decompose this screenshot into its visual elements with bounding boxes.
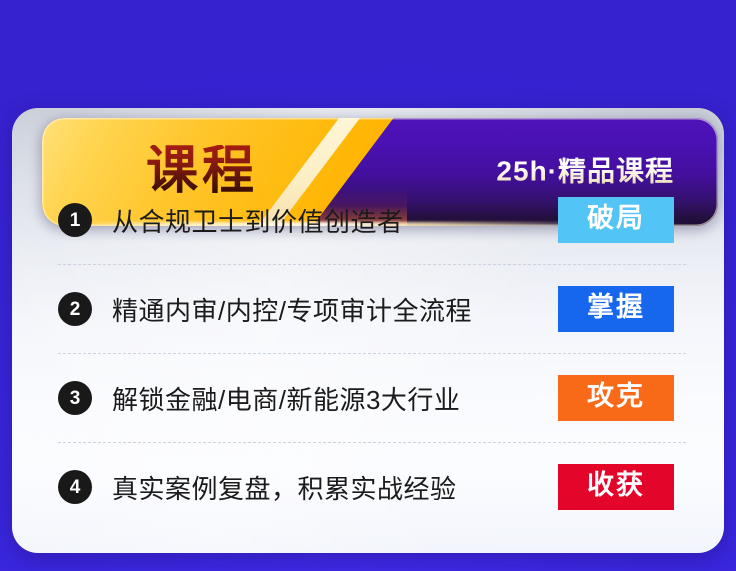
promo-card-stage: 课程 25h·精品课程 1 从合规卫士到价值创造者 破局 2 精通内审/内控/专… — [0, 0, 736, 571]
item-label: 真实案例复盘，积累实战经验 — [112, 469, 558, 506]
course-highlight-list: 1 从合规卫士到价值创造者 破局 2 精通内审/内控/专项审计全流程 掌握 3 … — [58, 176, 686, 495]
item-number-badge: 4 — [58, 470, 92, 504]
list-item[interactable]: 3 解锁金融/电商/新能源3大行业 攻克 — [58, 353, 686, 442]
item-tag-badge: 掌握 — [558, 286, 674, 331]
item-number-badge: 3 — [58, 381, 92, 415]
item-number-badge: 1 — [58, 203, 92, 237]
item-number-badge: 2 — [58, 292, 92, 326]
list-item[interactable]: 2 精通内审/内控/专项审计全流程 掌握 — [58, 264, 686, 353]
list-item[interactable]: 4 真实案例复盘，积累实战经验 收获 — [58, 442, 686, 531]
item-tag-badge: 收获 — [558, 464, 674, 509]
item-label: 从合规卫士到价值创造者 — [112, 202, 558, 239]
item-tag-badge: 攻克 — [558, 375, 674, 420]
list-item[interactable]: 1 从合规卫士到价值创造者 破局 — [58, 176, 686, 264]
item-label: 精通内审/内控/专项审计全流程 — [112, 291, 558, 328]
item-tag-badge: 破局 — [558, 197, 674, 242]
item-label: 解锁金融/电商/新能源3大行业 — [112, 380, 558, 417]
course-card: 课程 25h·精品课程 1 从合规卫士到价值创造者 破局 2 精通内审/内控/专… — [12, 108, 724, 553]
